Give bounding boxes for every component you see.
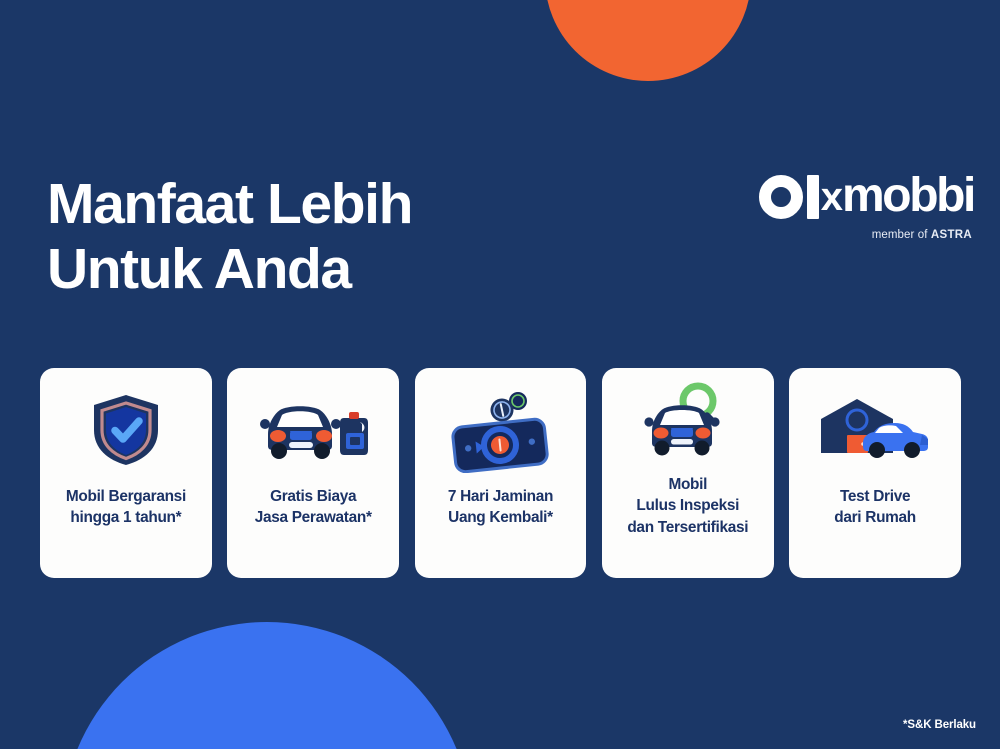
benefit-card-list: Mobil Bergaransi hingga 1 tahun*: [40, 368, 961, 578]
benefit-card-label: Gratis Biaya Jasa Perawatan*: [249, 486, 378, 529]
page-title: Manfaat Lebih Untuk Anda: [47, 172, 412, 302]
logo-tagline-prefix: member of: [872, 229, 931, 241]
logo-text: mobbi: [842, 172, 974, 220]
benefit-card-label: Mobil Lulus Inspeksi dan Tersertifikasi: [621, 474, 754, 538]
promo-banner: Manfaat Lebih Untuk Anda x mobbi member …: [0, 0, 1000, 749]
benefit-card-free-service[interactable]: Gratis Biaya Jasa Perawatan*: [227, 368, 399, 578]
car-oil-service-icon: [227, 368, 399, 486]
benefit-card-label: Test Drive dari Rumah: [828, 486, 922, 529]
logo-o-icon: [759, 175, 803, 219]
benefit-card-test-drive[interactable]: Test Drive dari Rumah: [789, 368, 961, 578]
benefit-card-money-back[interactable]: 7 Hari Jaminan Uang Kembali*: [415, 368, 587, 578]
benefit-card-inspection[interactable]: Mobil Lulus Inspeksi dan Tersertifikasi: [602, 368, 774, 578]
logo-bar-icon: [807, 175, 819, 219]
money-back-icon: [415, 368, 587, 486]
logo-wordmark: x mobbi: [759, 172, 974, 222]
brand-logo: x mobbi member of ASTRA: [759, 172, 974, 241]
car-inspection-icon: [602, 368, 774, 474]
benefit-card-label: 7 Hari Jaminan Uang Kembali*: [442, 486, 559, 529]
logo-x-icon: x: [821, 177, 841, 217]
home-test-drive-icon: [789, 368, 961, 486]
logo-tagline-brand: ASTRA: [931, 229, 972, 241]
logo-tagline: member of ASTRA: [759, 229, 974, 241]
shield-check-icon: [40, 368, 212, 486]
benefit-card-label: Mobil Bergaransi hingga 1 tahun*: [60, 486, 192, 529]
benefit-card-warranty[interactable]: Mobil Bergaransi hingga 1 tahun*: [40, 368, 212, 578]
footnote-terms: *S&K Berlaku: [903, 719, 976, 731]
